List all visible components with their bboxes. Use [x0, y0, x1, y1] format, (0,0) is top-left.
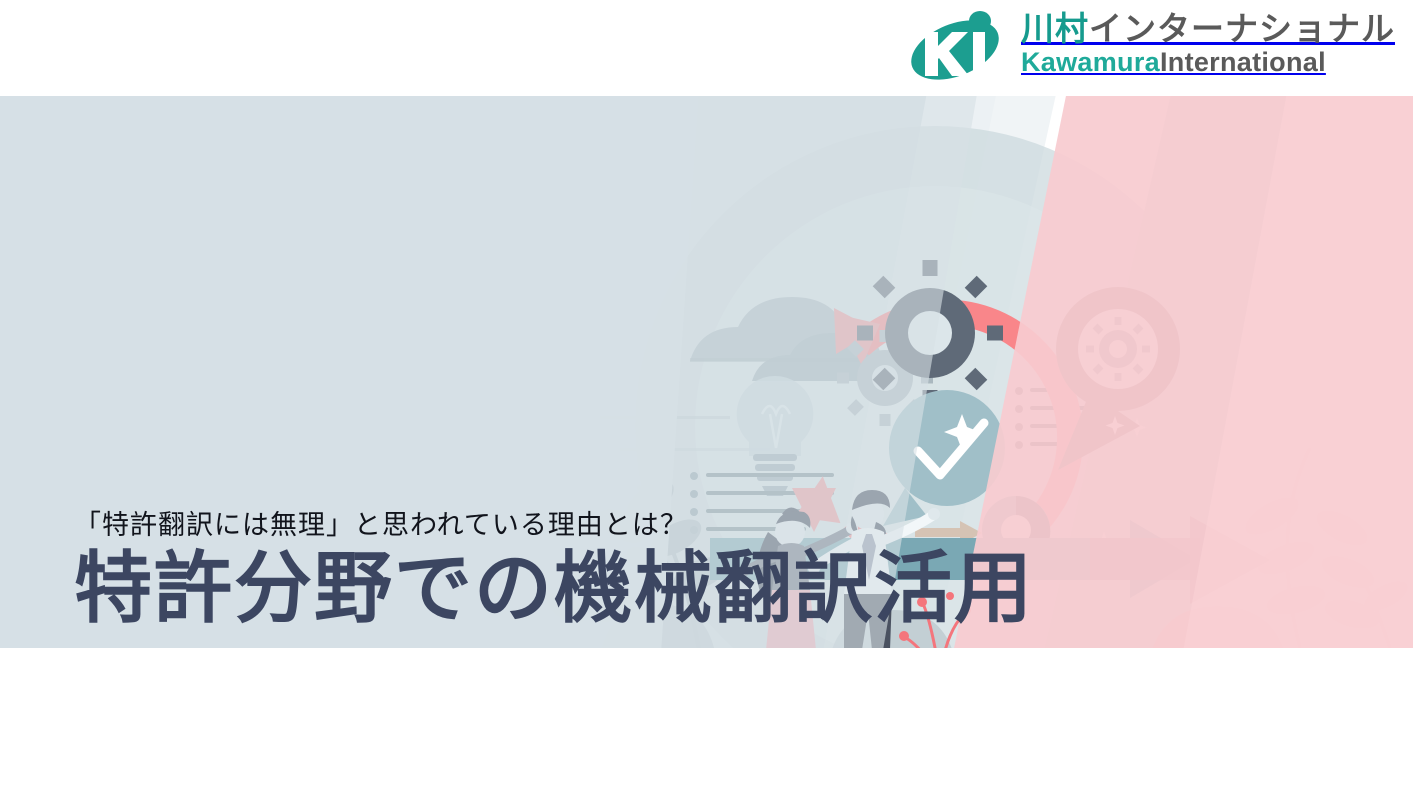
page-root: 川村インターナショナル KawamuraInternational — [0, 0, 1413, 799]
page-bottom-strip — [0, 648, 1413, 799]
site-header: 川村インターナショナル KawamuraInternational — [0, 0, 1413, 96]
logo-en-brand: Kawamura — [1021, 47, 1160, 77]
logo-wordmark: 川村インターナショナル KawamuraInternational — [1021, 12, 1395, 76]
logo-jp-rest: インターナショナル — [1089, 10, 1395, 47]
logo-en-line: KawamuraInternational — [1021, 49, 1395, 76]
hero-banner: 「特許翻訳には無理」と思われている理由とは？ 特許分野での機械翻訳活用 — [0, 96, 1413, 648]
logo-jp-line: 川村インターナショナル — [1021, 12, 1395, 45]
ki-logo-mark-icon — [907, 6, 1007, 82]
hero-illustration — [0, 96, 1413, 648]
site-logo[interactable]: 川村インターナショナル KawamuraInternational — [907, 6, 1395, 82]
logo-jp-brand: 川村 — [1021, 10, 1089, 47]
logo-en-rest: International — [1160, 47, 1326, 77]
